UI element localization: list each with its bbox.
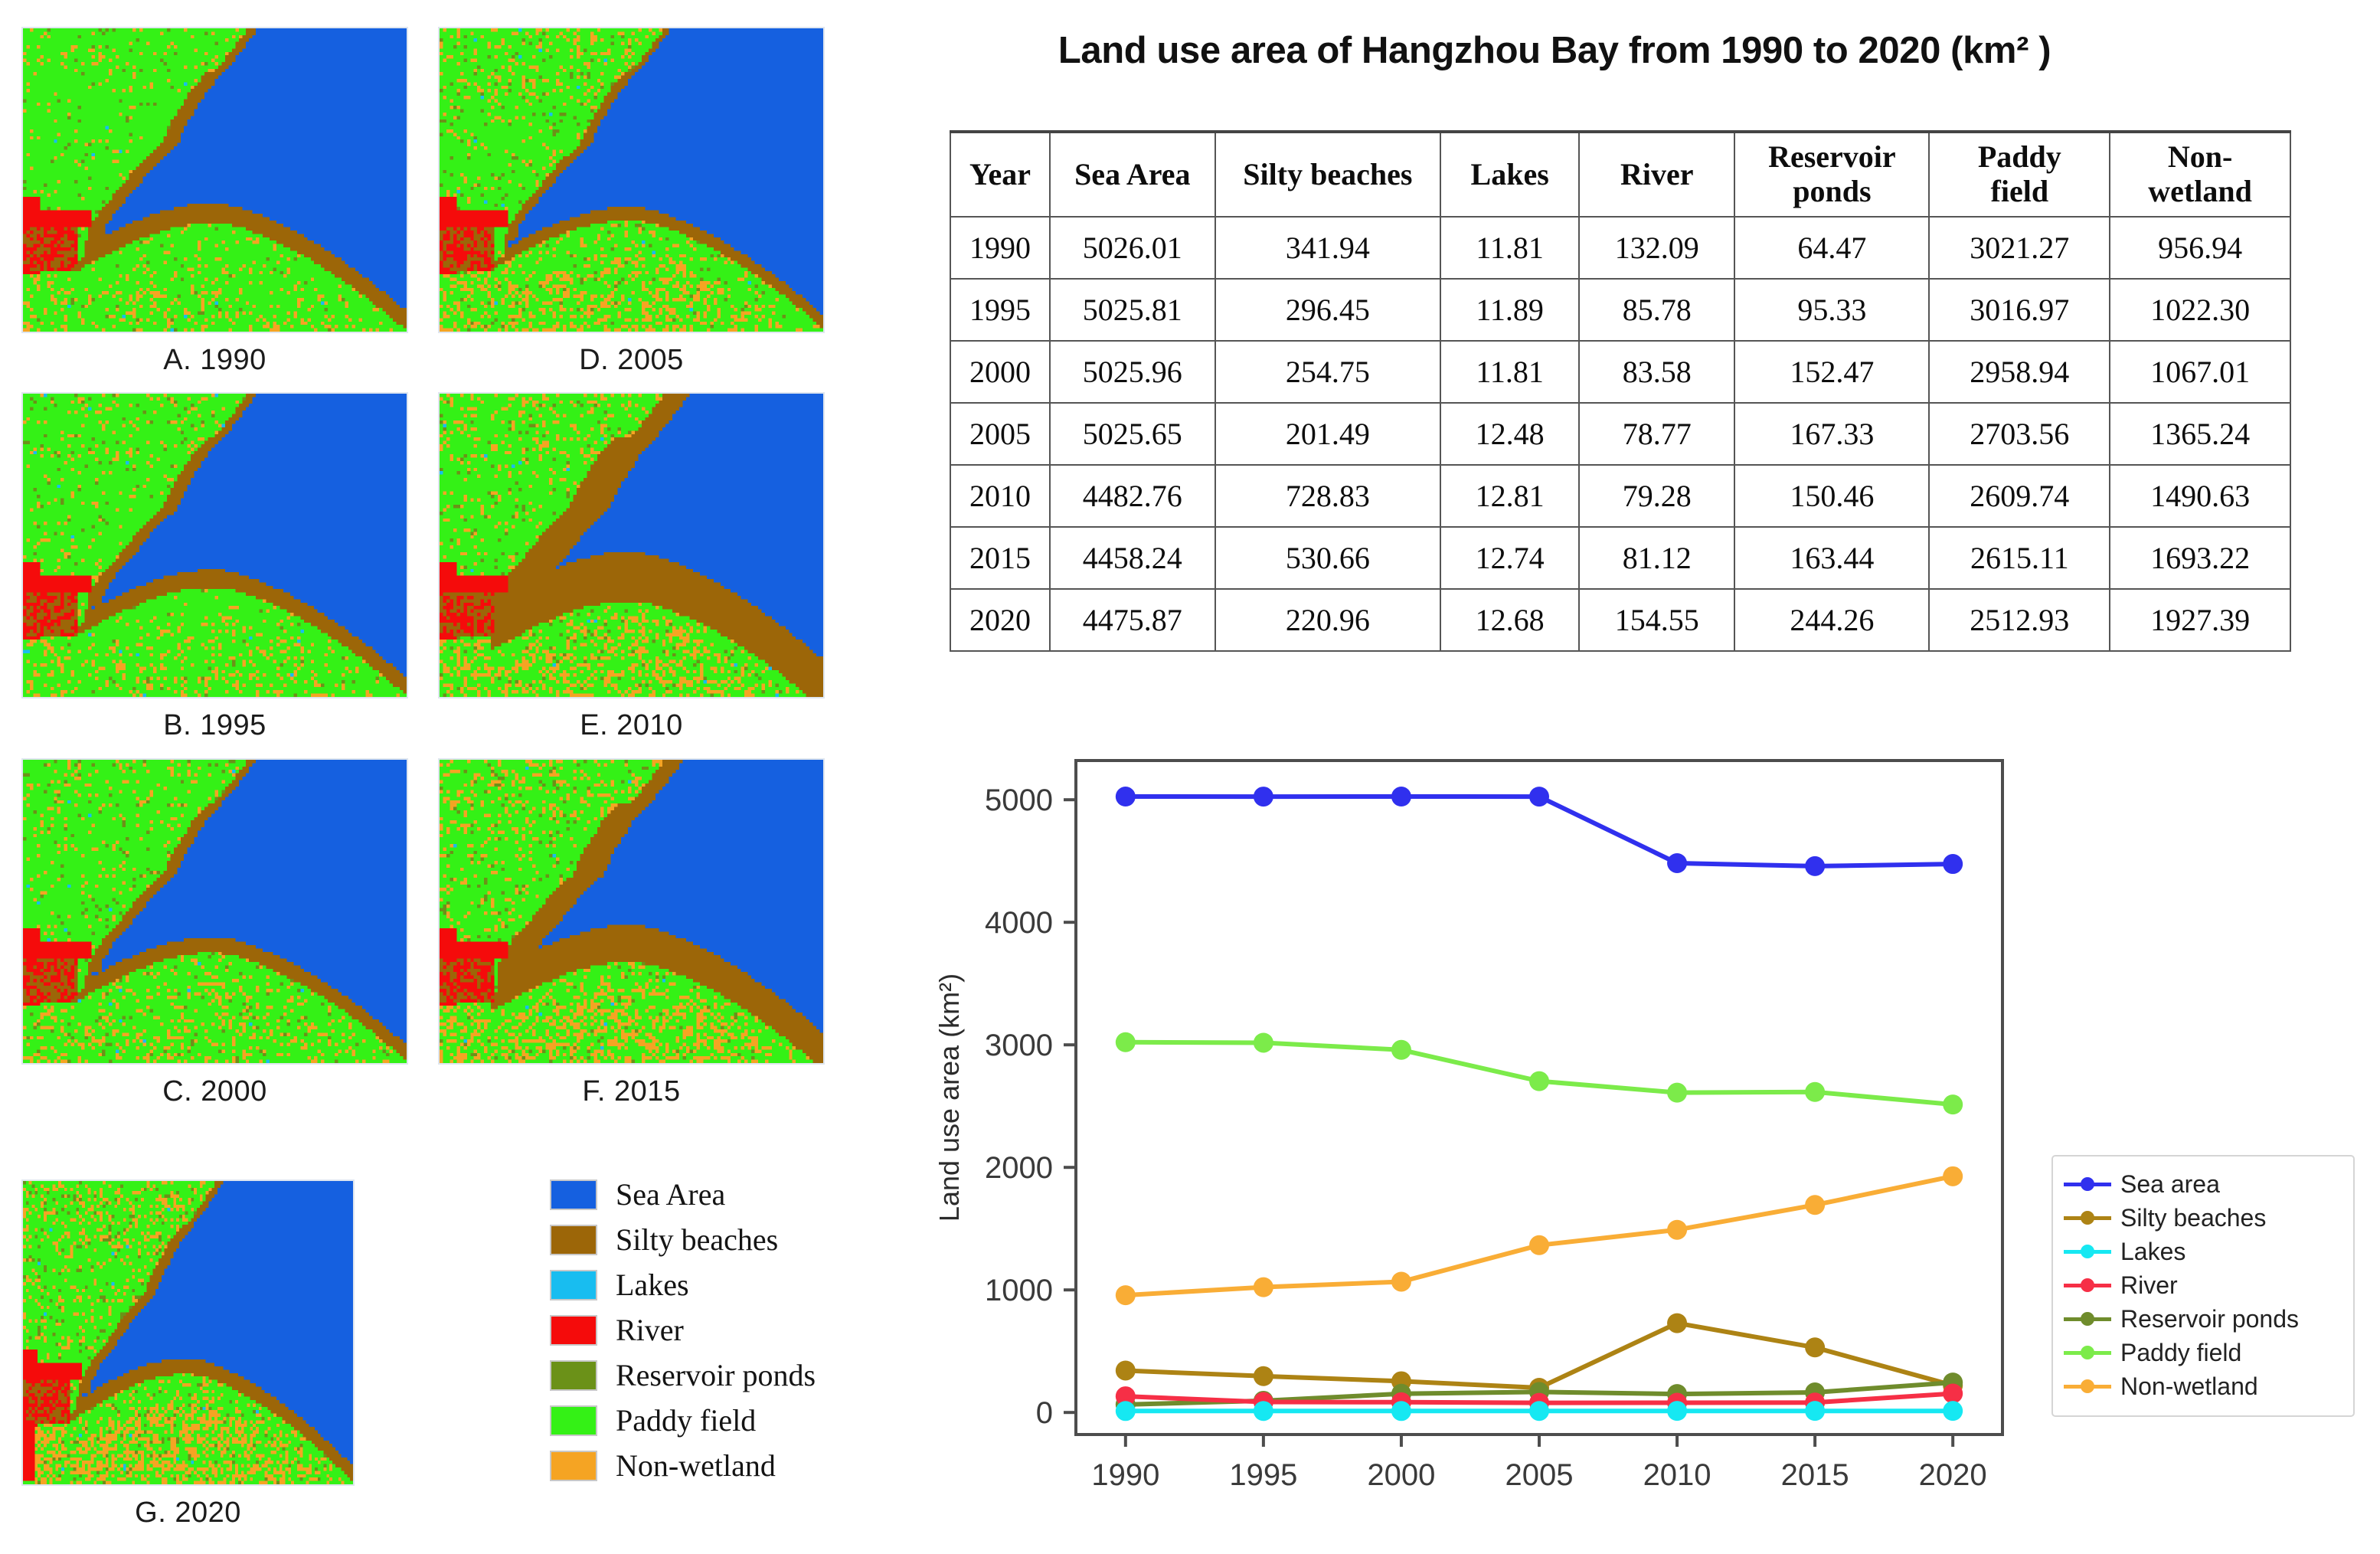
land-cover-map-2010 bbox=[438, 392, 825, 698]
x-axis-tick-label: 2000 bbox=[1367, 1458, 1435, 1492]
y-axis-tick-label: 0 bbox=[1036, 1396, 1053, 1430]
chart-legend-label: Silty beaches bbox=[2120, 1204, 2266, 1232]
data-point bbox=[1254, 787, 1273, 806]
table-cell: 1067.01 bbox=[2110, 341, 2290, 403]
table-cell: 2958.94 bbox=[1929, 341, 2110, 403]
legend-swatch-non-wetland bbox=[550, 1451, 597, 1481]
map-caption-2000: C. 2000 bbox=[21, 1075, 408, 1108]
table-cell: 956.94 bbox=[2110, 217, 2290, 279]
table-cell: 3016.97 bbox=[1929, 279, 2110, 341]
legend-marker-reservoir-ponds bbox=[2064, 1310, 2111, 1327]
data-point bbox=[1116, 787, 1136, 806]
table-cell: 5025.96 bbox=[1050, 341, 1215, 403]
table-cell: 11.89 bbox=[1440, 279, 1579, 341]
legend-marker-river bbox=[2064, 1277, 2111, 1294]
land-cover-map-2005 bbox=[438, 27, 825, 333]
data-point bbox=[1943, 854, 1963, 874]
legend-swatch-lakes bbox=[550, 1270, 597, 1300]
chart-legend: Sea areaSilty beachesLakesRiverReservoir… bbox=[2051, 1155, 2355, 1417]
legend-marker-sea-area bbox=[2064, 1176, 2111, 1192]
map-panel-2020: G. 2020 bbox=[21, 1179, 355, 1539]
column-header-silty-beaches: Silty beaches bbox=[1215, 132, 1441, 217]
y-axis-label: Land use area (km²) bbox=[933, 973, 965, 1222]
x-axis-tick-label: 2015 bbox=[1781, 1458, 1849, 1492]
table-cell: 154.55 bbox=[1579, 589, 1734, 651]
table-cell: 4475.87 bbox=[1050, 589, 1215, 651]
table-header: YearSea AreaSilty beachesLakesRiverReser… bbox=[950, 132, 2290, 217]
table-cell: 1365.24 bbox=[2110, 403, 2290, 465]
chart-legend-item: Lakes bbox=[2064, 1235, 2341, 1268]
page-title: Land use area of Hangzhou Bay from 1990 … bbox=[911, 29, 2198, 72]
data-point bbox=[1667, 853, 1687, 873]
x-axis-tick-label: 1990 bbox=[1091, 1458, 1159, 1492]
data-point bbox=[1391, 1271, 1411, 1291]
x-axis-tick-label: 2020 bbox=[1919, 1458, 1987, 1492]
data-point bbox=[1116, 1401, 1136, 1421]
table-cell: 5025.65 bbox=[1050, 403, 1215, 465]
chart-legend-item: Reservoir ponds bbox=[2064, 1302, 2341, 1336]
data-point bbox=[1667, 1314, 1687, 1333]
data-point bbox=[1943, 1166, 1963, 1186]
chart-legend-item: Non-wetland bbox=[2064, 1369, 2341, 1403]
table-cell: 152.47 bbox=[1734, 341, 1929, 403]
chart-legend-label: River bbox=[2120, 1271, 2178, 1300]
data-point bbox=[1254, 1278, 1273, 1297]
column-header-sea-area: Sea Area bbox=[1050, 132, 1215, 217]
map-legend-item: Paddy field bbox=[550, 1398, 910, 1443]
table-cell: 85.78 bbox=[1579, 279, 1734, 341]
chart-legend-item: Paddy field bbox=[2064, 1336, 2341, 1369]
table-cell: 296.45 bbox=[1215, 279, 1441, 341]
table-cell-year: 1990 bbox=[950, 217, 1050, 279]
chart-legend-label: Sea area bbox=[2120, 1170, 2220, 1199]
table-cell: 2615.11 bbox=[1929, 527, 2110, 589]
y-axis-tick-label: 3000 bbox=[985, 1029, 1053, 1062]
map-caption-1990: A. 1990 bbox=[21, 344, 408, 377]
y-axis-tick-label: 2000 bbox=[985, 1151, 1053, 1185]
table-row: 20204475.87220.9612.68154.55244.262512.9… bbox=[950, 589, 2290, 651]
legend-swatch-silty-beaches bbox=[550, 1225, 597, 1255]
map-legend-label: Non-wetland bbox=[616, 1448, 776, 1484]
chart-legend-label: Paddy field bbox=[2120, 1339, 2241, 1367]
column-header-paddy-field: Paddyfield bbox=[1929, 132, 2110, 217]
legend-marker-silty-beaches bbox=[2064, 1209, 2111, 1226]
map-legend-item: River bbox=[550, 1307, 910, 1353]
table-cell: 167.33 bbox=[1734, 403, 1929, 465]
table-cell: 81.12 bbox=[1579, 527, 1734, 589]
data-point bbox=[1529, 1401, 1549, 1421]
table-cell: 220.96 bbox=[1215, 589, 1441, 651]
column-header-river: River bbox=[1579, 132, 1734, 217]
data-point bbox=[1391, 787, 1411, 806]
map-panel-2015: F. 2015 bbox=[438, 758, 825, 1118]
table-cell: 132.09 bbox=[1579, 217, 1734, 279]
map-legend-item: Sea Area bbox=[550, 1172, 910, 1217]
chart-legend-label: Lakes bbox=[2120, 1238, 2185, 1266]
data-point bbox=[1116, 1360, 1136, 1380]
table-cell: 728.83 bbox=[1215, 465, 1441, 527]
data-point bbox=[1805, 1195, 1825, 1215]
table-cell: 5025.81 bbox=[1050, 279, 1215, 341]
table-cell-year: 1995 bbox=[950, 279, 1050, 341]
data-point bbox=[1943, 1401, 1963, 1421]
table-cell-year: 2005 bbox=[950, 403, 1050, 465]
data-point bbox=[1529, 1071, 1549, 1091]
data-point bbox=[1254, 1366, 1273, 1386]
legend-marker-lakes bbox=[2064, 1243, 2111, 1260]
land-cover-map-2020 bbox=[21, 1179, 355, 1486]
map-panel-2000: C. 2000 bbox=[21, 758, 408, 1118]
data-point bbox=[1529, 787, 1549, 806]
land-cover-map-1990 bbox=[21, 27, 408, 333]
map-panel-2010: E. 2010 bbox=[438, 392, 825, 752]
data-point bbox=[1254, 1032, 1273, 1052]
land-cover-map-2000 bbox=[21, 758, 408, 1065]
table-cell: 78.77 bbox=[1579, 403, 1734, 465]
table-cell: 150.46 bbox=[1734, 465, 1929, 527]
legend-marker-paddy-field bbox=[2064, 1344, 2111, 1361]
map-panel-1995: B. 1995 bbox=[21, 392, 408, 752]
map-legend-item: Reservoir ponds bbox=[550, 1353, 910, 1398]
legend-swatch-reservoir-ponds bbox=[550, 1360, 597, 1391]
map-legend-item: Non-wetland bbox=[550, 1443, 910, 1488]
map-legend-label: River bbox=[616, 1312, 684, 1348]
data-point bbox=[1805, 1401, 1825, 1421]
table-cell: 2703.56 bbox=[1929, 403, 2110, 465]
land-cover-map-1995 bbox=[21, 392, 408, 698]
series-line-sea-area bbox=[1126, 797, 1953, 866]
table-cell: 530.66 bbox=[1215, 527, 1441, 589]
legend-marker-non-wetland bbox=[2064, 1378, 2111, 1395]
column-header-lakes: Lakes bbox=[1440, 132, 1579, 217]
data-point bbox=[1116, 1285, 1136, 1305]
map-legend-item: Silty beaches bbox=[550, 1217, 910, 1262]
table-cell: 12.74 bbox=[1440, 527, 1579, 589]
y-axis-tick-label: 4000 bbox=[985, 906, 1053, 940]
table-cell: 83.58 bbox=[1579, 341, 1734, 403]
table-row: 20154458.24530.6612.7481.12163.442615.11… bbox=[950, 527, 2290, 589]
table-cell: 201.49 bbox=[1215, 403, 1441, 465]
data-point bbox=[1805, 1082, 1825, 1102]
chart-legend-label: Non-wetland bbox=[2120, 1372, 2258, 1401]
column-header-year: Year bbox=[950, 132, 1050, 217]
table-cell: 254.75 bbox=[1215, 341, 1441, 403]
table-cell: 11.81 bbox=[1440, 341, 1579, 403]
map-caption-2010: E. 2010 bbox=[438, 709, 825, 742]
data-point bbox=[1805, 856, 1825, 876]
chart-legend-label: Reservoir ponds bbox=[2120, 1305, 2299, 1333]
table-cell-year: 2010 bbox=[950, 465, 1050, 527]
table-cell: 244.26 bbox=[1734, 589, 1929, 651]
chart-legend-item: Silty beaches bbox=[2064, 1201, 2341, 1235]
table-row: 20104482.76728.8312.8179.28150.462609.74… bbox=[950, 465, 2290, 527]
table-row: 20005025.96254.7511.8183.58152.472958.94… bbox=[950, 341, 2290, 403]
column-header-non-wetland: Non-wetland bbox=[2110, 132, 2290, 217]
table-cell: 3021.27 bbox=[1929, 217, 2110, 279]
table-cell: 12.68 bbox=[1440, 589, 1579, 651]
data-point bbox=[1529, 1235, 1549, 1255]
table-cell-year: 2020 bbox=[950, 589, 1050, 651]
table-cell: 1693.22 bbox=[2110, 527, 2290, 589]
table-cell: 1022.30 bbox=[2110, 279, 2290, 341]
table-cell: 341.94 bbox=[1215, 217, 1441, 279]
map-caption-2020: G. 2020 bbox=[21, 1497, 355, 1529]
y-axis-tick-label: 1000 bbox=[985, 1274, 1053, 1307]
map-caption-2015: F. 2015 bbox=[438, 1075, 825, 1108]
y-axis-tick-label: 5000 bbox=[985, 784, 1053, 817]
chart-legend-item: River bbox=[2064, 1268, 2341, 1302]
table-cell: 12.81 bbox=[1440, 465, 1579, 527]
table-header-row: YearSea AreaSilty beachesLakesRiverReser… bbox=[950, 132, 2290, 217]
table-cell: 64.47 bbox=[1734, 217, 1929, 279]
table-cell: 4458.24 bbox=[1050, 527, 1215, 589]
table-body: 19905026.01341.9411.81132.0964.473021.27… bbox=[950, 217, 2290, 651]
line-chart: 0100020003000400050001990199520002005201… bbox=[911, 735, 2380, 1509]
table-cell: 5026.01 bbox=[1050, 217, 1215, 279]
chart-legend-item: Sea area bbox=[2064, 1167, 2341, 1201]
table-cell: 4482.76 bbox=[1050, 465, 1215, 527]
data-point bbox=[1805, 1337, 1825, 1357]
map-panel-2005: D. 2005 bbox=[438, 27, 825, 387]
table-cell: 163.44 bbox=[1734, 527, 1929, 589]
map-legend-label: Sea Area bbox=[616, 1176, 725, 1212]
table-row: 20055025.65201.4912.4878.77167.332703.56… bbox=[950, 403, 2290, 465]
table-cell-year: 2015 bbox=[950, 527, 1050, 589]
table-cell: 79.28 bbox=[1579, 465, 1734, 527]
table-cell: 11.81 bbox=[1440, 217, 1579, 279]
table-row: 19955025.81296.4511.8985.7895.333016.971… bbox=[950, 279, 2290, 341]
map-panel-1990: A. 1990 bbox=[21, 27, 408, 387]
x-axis-tick-label: 1995 bbox=[1229, 1458, 1297, 1492]
table-cell: 1490.63 bbox=[2110, 465, 2290, 527]
land-use-table: YearSea AreaSilty beachesLakesRiverReser… bbox=[950, 130, 2291, 652]
data-point bbox=[1391, 1040, 1411, 1060]
data-point bbox=[1116, 1032, 1136, 1052]
map-legend-label: Paddy field bbox=[616, 1402, 756, 1438]
table-row: 19905026.01341.9411.81132.0964.473021.27… bbox=[950, 217, 2290, 279]
land-cover-map-2015 bbox=[438, 758, 825, 1065]
table-cell: 95.33 bbox=[1734, 279, 1929, 341]
legend-swatch-river bbox=[550, 1315, 597, 1346]
legend-swatch-paddy-field bbox=[550, 1405, 597, 1436]
data-point bbox=[1667, 1401, 1687, 1421]
data-point bbox=[1943, 1094, 1963, 1114]
data-point bbox=[1391, 1401, 1411, 1421]
table-cell-year: 2000 bbox=[950, 341, 1050, 403]
map-legend: Sea AreaSilty beachesLakesRiverReservoir… bbox=[550, 1172, 910, 1488]
x-axis-tick-label: 2005 bbox=[1505, 1458, 1574, 1492]
data-point bbox=[1667, 1220, 1687, 1240]
x-axis-tick-label: 2010 bbox=[1643, 1458, 1711, 1492]
table-cell: 1927.39 bbox=[2110, 589, 2290, 651]
map-legend-item: Lakes bbox=[550, 1262, 910, 1307]
map-caption-2005: D. 2005 bbox=[438, 344, 825, 377]
right-panel: Land use area of Hangzhou Bay from 1990 … bbox=[911, 0, 2380, 1554]
map-legend-label: Lakes bbox=[616, 1267, 689, 1303]
legend-swatch-sea-area bbox=[550, 1179, 597, 1210]
data-point bbox=[1254, 1401, 1273, 1421]
table-cell: 2609.74 bbox=[1929, 465, 2110, 527]
map-caption-1995: B. 1995 bbox=[21, 709, 408, 742]
map-legend-label: Reservoir ponds bbox=[616, 1357, 816, 1393]
column-header-reservoir-ponds: Reservoirponds bbox=[1734, 132, 1929, 217]
table-cell: 2512.93 bbox=[1929, 589, 2110, 651]
data-point bbox=[1667, 1083, 1687, 1103]
map-legend-label: Silty beaches bbox=[616, 1222, 778, 1258]
data-point bbox=[1943, 1383, 1963, 1403]
table-cell: 12.48 bbox=[1440, 403, 1579, 465]
